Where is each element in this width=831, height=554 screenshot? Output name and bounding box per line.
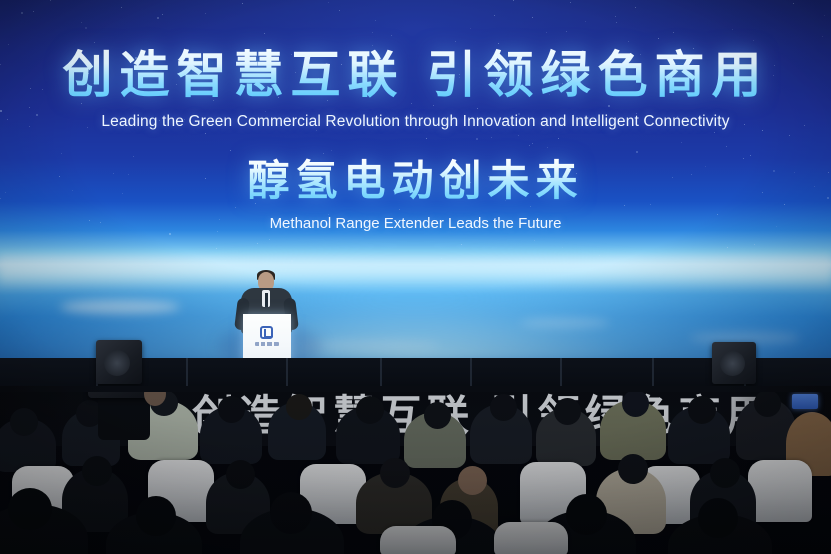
phone-recording-screen [792, 394, 818, 409]
audience-head [218, 396, 245, 423]
headline-cn-part2: 引领绿色商用 [427, 47, 769, 103]
audience-head [688, 396, 716, 424]
pa-speaker-left [96, 340, 142, 384]
speaker-tie [265, 293, 268, 307]
audience-head [490, 394, 517, 421]
screen-title-block: 创造智慧互联引领绿色商用 Leading the Green Commercia… [0, 0, 831, 232]
audience-head [286, 394, 312, 420]
audience-head [8, 488, 52, 530]
speaker-at-podium [232, 272, 308, 372]
audience-head [82, 456, 112, 486]
audience-head [618, 454, 648, 484]
event-photo-scene: 创造智慧互联引领绿色商用 Leading the Green Commercia… [0, 0, 831, 554]
subtitle-english-primary: Leading the Green Commercial Revolution … [0, 113, 831, 131]
audience-head [270, 492, 312, 534]
audience-head [356, 396, 384, 424]
audience-chair [748, 460, 812, 522]
audience-head [710, 458, 740, 488]
audience-head [424, 402, 451, 429]
headline-chinese-primary: 创造智慧互联引领绿色商用 [0, 48, 831, 103]
stage-led-screen: 创造智慧互联引领绿色商用 Leading the Green Commercia… [0, 0, 831, 360]
subtitle-english-secondary: Methanol Range Extender Leads the Future [0, 215, 831, 232]
pa-speaker-right [712, 342, 756, 384]
audience-head [136, 496, 176, 536]
headline-cn-part1: 创造智慧互联 [63, 47, 405, 103]
audience-head [698, 498, 738, 538]
audience-head [554, 398, 581, 425]
audience-head [458, 466, 487, 495]
cloud-wisp [60, 300, 180, 314]
earth-horizon-haze [0, 250, 831, 290]
headline-chinese-secondary: 醇氢电动创未来 [0, 158, 831, 204]
audience-chair [380, 526, 456, 554]
cloud-wisp [520, 318, 610, 328]
audience-seating-area [0, 392, 831, 554]
camera-operator-body [98, 392, 150, 440]
podium-wordmark [255, 342, 279, 346]
audience-head [566, 494, 607, 535]
audience-chair [494, 522, 568, 554]
podium-logo-icon [260, 326, 273, 339]
audience-head [10, 408, 38, 436]
audience-head [226, 460, 255, 489]
audience-head [380, 458, 410, 488]
